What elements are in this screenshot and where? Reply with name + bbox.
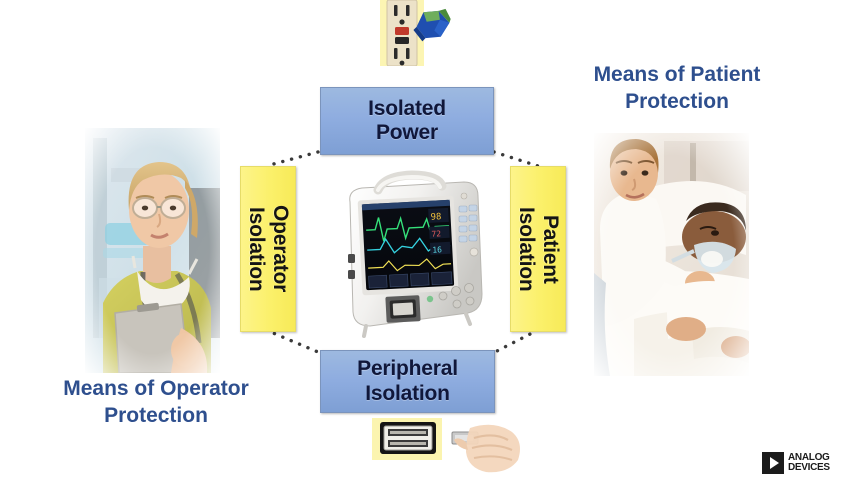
connector-top-left — [266, 152, 318, 166]
connector-top-right — [494, 152, 538, 166]
box-operator-isolation-label: Operator Isolation — [244, 205, 292, 292]
svg-text:98: 98 — [430, 212, 441, 223]
box-patient-isolation[interactable]: Patient Isolation — [510, 166, 566, 332]
patient-monitor-image: 98 72 16 — [326, 166, 498, 338]
box-peripheral-isolation-label: Peripheral Isolation — [357, 357, 458, 406]
svg-text:16: 16 — [432, 245, 442, 255]
isolation-diagram-slide: 98 72 16 — [0, 0, 845, 482]
box-operator-isolation[interactable]: Operator Isolation — [240, 166, 296, 332]
caption-means-of-patient-protection: Means of Patient Protection — [552, 62, 802, 116]
analog-devices-logo: ANALOG DEVICES — [762, 450, 838, 476]
gfci-power-outlet-with-plug-image — [374, 0, 480, 66]
connector-bottom-right — [495, 330, 538, 352]
patient-in-bed-photo — [594, 133, 749, 376]
analog-devices-wordmark: ANALOG DEVICES — [788, 453, 830, 473]
svg-text:72: 72 — [431, 229, 441, 239]
box-peripheral-isolation[interactable]: Peripheral Isolation — [320, 350, 495, 413]
caption-means-of-operator-protection: Means of Operator Protection — [22, 376, 290, 430]
connector-bottom-left — [266, 330, 318, 352]
logo-line-2: DEVICES — [788, 463, 830, 473]
box-isolated-power-label: Isolated Power — [368, 97, 446, 146]
box-isolated-power[interactable]: Isolated Power — [320, 87, 494, 155]
analog-devices-triangle-icon — [762, 452, 784, 474]
box-patient-isolation-label: Patient Isolation — [514, 207, 562, 292]
usb-port-with-hand-image — [366, 418, 526, 478]
nurse-photo — [85, 128, 220, 373]
